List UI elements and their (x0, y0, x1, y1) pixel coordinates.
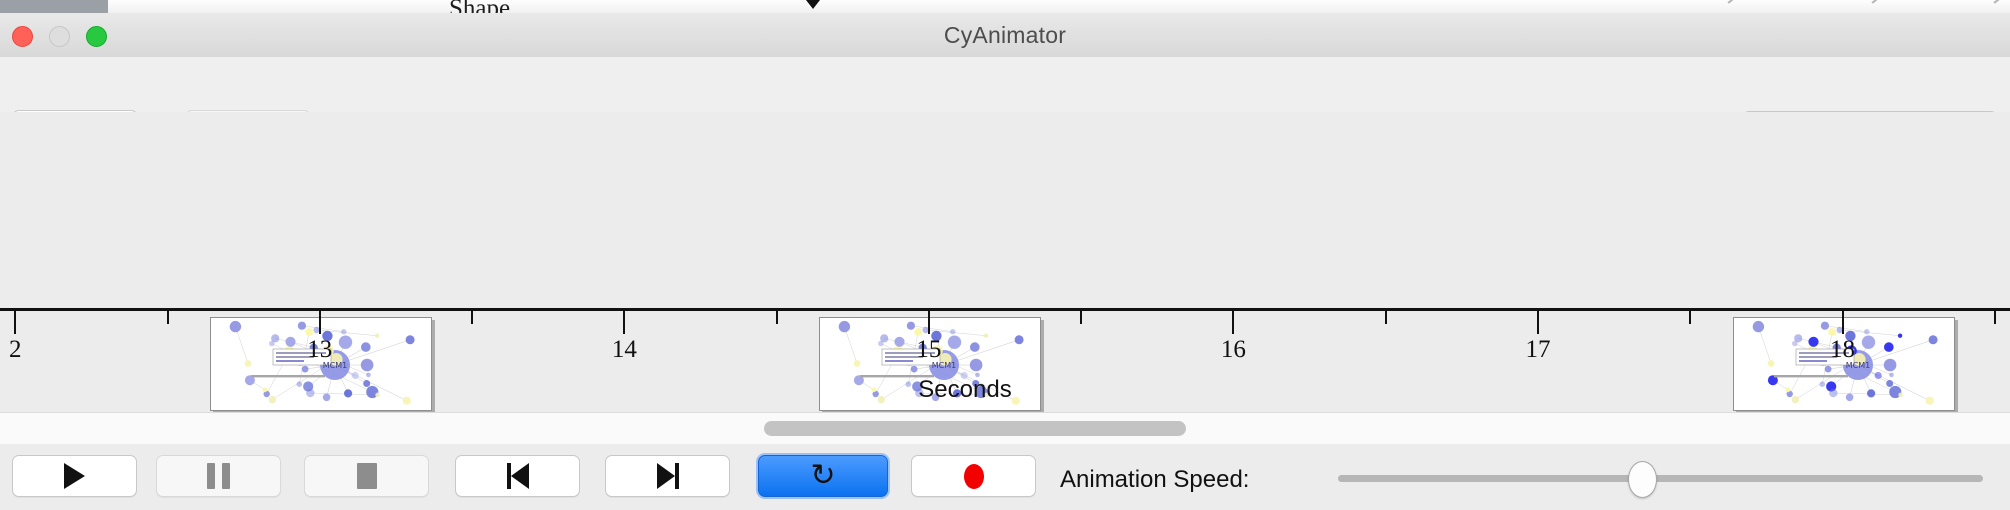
window-title: CyAnimator (0, 13, 2010, 57)
animation-speed-slider-thumb[interactable] (1628, 461, 1657, 498)
axis-tick-minor (1689, 311, 1691, 324)
background-segment (1699, 0, 2010, 13)
axis-title: Seconds (0, 376, 2010, 404)
axis-tick-label: 16 (1221, 336, 1246, 364)
background-shape-label: Shape (449, 0, 510, 13)
player-toolbar: ↻ Animation Speed: (0, 444, 2010, 510)
timeline-scrollbar[interactable] (0, 412, 2010, 446)
axis-tick-minor (1994, 311, 1996, 324)
axis-tick-major (1232, 311, 1234, 334)
axis-tick-major (1842, 311, 1844, 334)
axis-tick-minor (167, 311, 169, 324)
record-icon (964, 464, 984, 489)
axis-tick-major (14, 311, 16, 334)
background-segment (1209, 0, 1700, 13)
play-button[interactable] (12, 455, 137, 497)
skip-forward-icon (655, 463, 681, 489)
loop-button[interactable]: ↻ (758, 455, 888, 497)
axis-tick-major (623, 311, 625, 334)
background-window-strip: Shape (0, 0, 2010, 13)
stop-button[interactable] (304, 455, 429, 497)
background-segment (547, 0, 780, 13)
background-tick-icon (1994, 2, 2006, 12)
background-tick-icon (1872, 2, 1884, 12)
animation-speed-label: Animation Speed: (1060, 466, 1249, 494)
play-icon (64, 463, 85, 489)
axis-tick-minor (471, 311, 473, 324)
record-button[interactable] (911, 455, 1036, 497)
axis-tick-label: 15 (916, 336, 941, 364)
timeline-panel[interactable]: MCM1MCM1MCM1 2131415161718 Seconds (0, 112, 2010, 412)
axis-tick-label: 14 (612, 336, 637, 364)
axis-tick-major (319, 311, 321, 334)
axis-line (0, 308, 2010, 311)
axis-tick-minor (1385, 311, 1387, 324)
frame-list[interactable]: MCM1MCM1MCM1 (0, 112, 2010, 308)
cyanimator-window: Shape CyAnimator Clear All Frames MCM1M (0, 0, 2010, 510)
pause-icon (207, 463, 230, 489)
background-segment (779, 0, 1210, 13)
title-bar[interactable]: CyAnimator (0, 13, 2010, 58)
axis-tick-minor (1080, 311, 1082, 324)
axis-tick-label: 18 (1830, 336, 1855, 364)
skip-to-end-button[interactable] (605, 455, 730, 497)
skip-back-icon (505, 463, 531, 489)
pause-button[interactable] (156, 455, 281, 497)
axis-tick-minor (776, 311, 778, 324)
background-segment (108, 0, 291, 13)
timeline-axis: 2131415161718 Seconds (0, 308, 2010, 412)
axis-tick-label: 17 (1525, 336, 1550, 364)
background-tick-icon (1728, 2, 1740, 12)
background-segment (0, 0, 109, 13)
frame-toolbar: Clear All Frames (0, 57, 2010, 113)
scrollbar-thumb[interactable] (764, 421, 1186, 436)
axis-tick-label: 13 (307, 336, 332, 364)
axis-tick-major (1537, 311, 1539, 334)
axis-tick-label: 2 (9, 336, 22, 364)
axis-tick-major (928, 311, 930, 334)
animation-speed-slider[interactable] (1338, 475, 1983, 482)
background-arrow-icon (806, 0, 820, 9)
stop-icon (357, 463, 377, 489)
loop-icon: ↻ (810, 461, 835, 491)
skip-to-start-button[interactable] (455, 455, 580, 497)
background-segment (290, 0, 408, 13)
